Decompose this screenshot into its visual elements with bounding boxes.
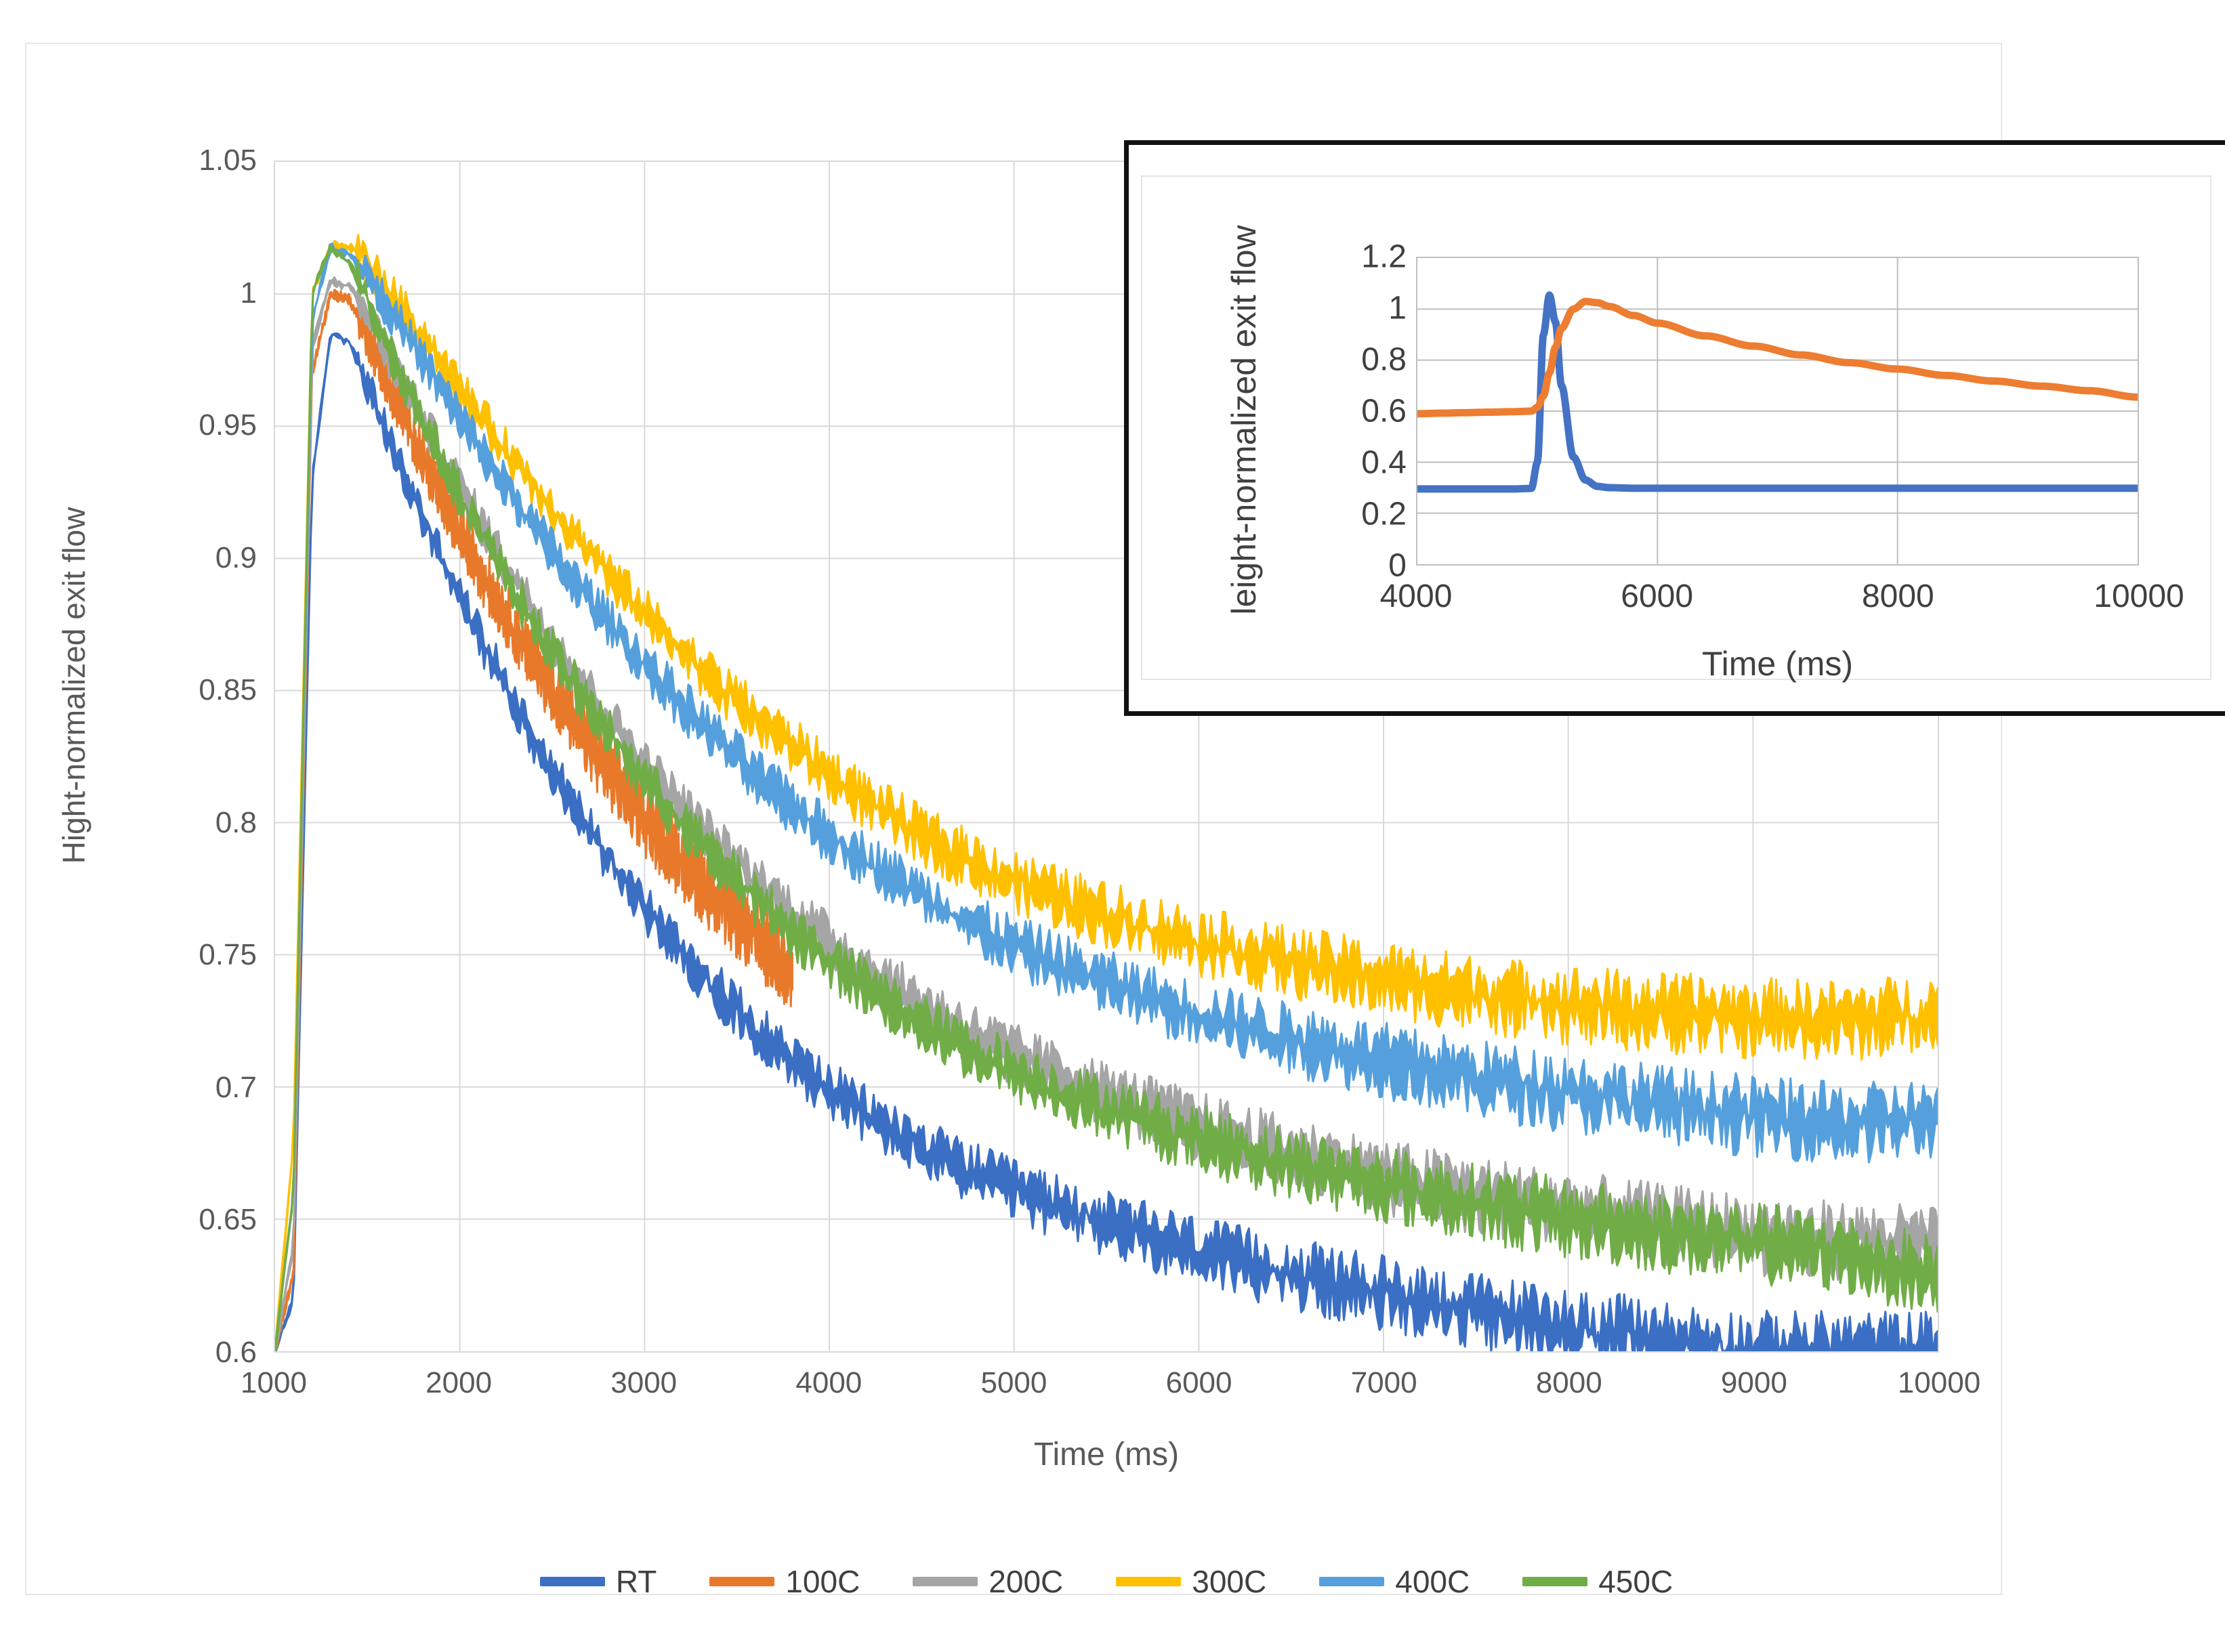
x-tick-label: 1000 (241, 1366, 307, 1400)
legend-item-400c[interactable]: 400C (1319, 1563, 1470, 1600)
legend-swatch-icon (1522, 1577, 1587, 1586)
inset-y-tick-label: 0.6 (1361, 393, 1407, 430)
y-tick-label: 0.65 (199, 1203, 257, 1237)
inset-series-pulse (1417, 295, 2138, 489)
inset-x-tick-label: 10000 (2094, 578, 2184, 615)
legend-item-200c[interactable]: 200C (913, 1563, 1063, 1600)
legend-label: 100C (785, 1563, 860, 1600)
legend-swatch-icon (1116, 1577, 1181, 1586)
x-tick-label: 8000 (1536, 1366, 1602, 1400)
inset-y-tick-label: 0.2 (1361, 496, 1407, 533)
legend-label: 450C (1598, 1563, 1673, 1600)
inset-x-tick-label: 4000 (1380, 578, 1453, 615)
chart-page: 0.60.650.70.750.80.850.90.9511.05 100020… (0, 0, 2225, 1652)
y-tick-label: 0.75 (199, 938, 257, 972)
x-tick-label: 7000 (1351, 1366, 1417, 1400)
x-tick-label: 10000 (1898, 1366, 1980, 1400)
y-tick-label: 0.9 (215, 541, 257, 575)
inset-y-tick-label: 0.4 (1361, 444, 1407, 482)
inset-x-tick-label: 6000 (1621, 578, 1693, 615)
inset-y-axis-tick-labels: 00.20.40.60.811.2 (1312, 257, 1407, 566)
x-tick-label: 3000 (610, 1366, 677, 1400)
x-tick-label: 9000 (1721, 1366, 1787, 1400)
x-tick-label: 5000 (980, 1366, 1047, 1400)
y-tick-label: 0.95 (199, 408, 257, 442)
inset-series-response (1417, 301, 2138, 414)
inset-plot-area (1416, 257, 2139, 566)
x-tick-label: 2000 (425, 1366, 492, 1400)
legend-item-100c[interactable]: 100C (709, 1563, 860, 1600)
legend-label: 300C (1192, 1563, 1266, 1600)
legend-swatch-icon (709, 1577, 774, 1586)
y-tick-label: 1 (241, 276, 257, 310)
y-axis-tick-labels: 0.60.650.70.750.80.850.90.9511.05 (121, 161, 257, 1353)
inset-y-tick-label: 1 (1388, 290, 1407, 327)
series-100c (275, 290, 792, 1351)
inset-plot-svg (1417, 258, 2138, 564)
x-tick-label: 6000 (1166, 1366, 1232, 1400)
y-tick-label: 0.8 (215, 806, 257, 840)
legend-label: 200C (989, 1563, 1063, 1600)
inset-y-tick-label: 0.8 (1361, 341, 1407, 379)
chart-legend: RT100C200C300C400C450C (274, 1551, 1939, 1612)
inset-y-axis-title: leight-normalized exit flow (1224, 203, 1264, 637)
inset-chart-frame: 00.20.40.60.811.2 40006000800010000 leig… (1141, 175, 2211, 680)
x-axis-title: Time (ms) (274, 1436, 1939, 1473)
legend-item-rt[interactable]: RT (540, 1563, 657, 1600)
inset-x-tick-label: 8000 (1862, 578, 1934, 615)
y-tick-label: 0.85 (199, 673, 257, 707)
y-tick-label: 0.7 (215, 1071, 257, 1105)
legend-swatch-icon (913, 1577, 978, 1586)
legend-swatch-icon (1319, 1577, 1384, 1586)
legend-label: 400C (1395, 1563, 1470, 1600)
inset-x-axis-tick-labels: 40006000800010000 (1416, 578, 2139, 618)
x-axis-tick-labels: 1000200030004000500060007000800090001000… (274, 1366, 1939, 1414)
x-tick-label: 4000 (795, 1366, 862, 1400)
legend-item-300c[interactable]: 300C (1116, 1563, 1266, 1600)
inset-chart-container: 00.20.40.60.811.2 40006000800010000 leig… (1124, 140, 2225, 716)
legend-swatch-icon (540, 1577, 605, 1586)
main-chart-container: 0.60.650.70.750.80.850.90.9511.05 100020… (25, 43, 2002, 1595)
y-tick-label: 0.6 (215, 1336, 257, 1370)
y-tick-label: 1.05 (199, 144, 257, 177)
legend-label: RT (616, 1563, 657, 1600)
y-axis-title: Hight-normalized exit flow (56, 415, 92, 956)
inset-y-tick-label: 1.2 (1361, 238, 1407, 276)
legend-item-450c[interactable]: 450C (1522, 1563, 1673, 1600)
inset-x-axis-title: Time (ms) (1416, 644, 2139, 683)
